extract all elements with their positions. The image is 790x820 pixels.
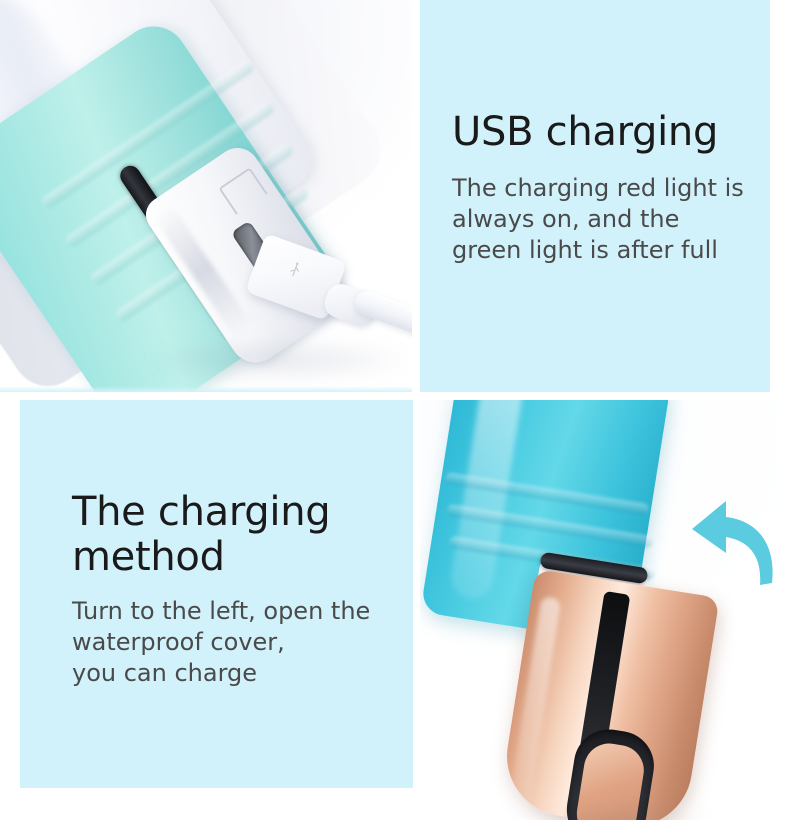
- usb-charging-body-text: The charging red light is always on, and…: [452, 173, 762, 267]
- charging-method-headline: The charging method: [72, 490, 402, 580]
- usb-charging-photo-panel: [0, 0, 412, 392]
- usb-charging-headline: USB charging: [452, 110, 762, 155]
- panel-bottom-fade: [0, 386, 412, 392]
- usb-text-wrap: USB charging The charging red light is a…: [452, 110, 762, 266]
- method-photo-stage: [420, 400, 790, 820]
- floor-shadow: [120, 330, 412, 390]
- floor-shadow: [510, 800, 740, 820]
- charging-method-text-panel: The charging method Turn to the left, op…: [20, 400, 413, 788]
- method-text-wrap: The charging method Turn to the left, op…: [72, 490, 402, 689]
- product-feature-infographic: USB charging The charging red light is a…: [0, 0, 790, 820]
- usb-photo-stage: [0, 0, 412, 392]
- curved-left-arrow-icon: [668, 495, 780, 595]
- usb-charging-text-panel: USB charging The charging red light is a…: [420, 0, 770, 392]
- charging-method-photo-panel: [420, 400, 790, 820]
- charging-method-body-text: Turn to the left, open the waterproof co…: [72, 596, 402, 690]
